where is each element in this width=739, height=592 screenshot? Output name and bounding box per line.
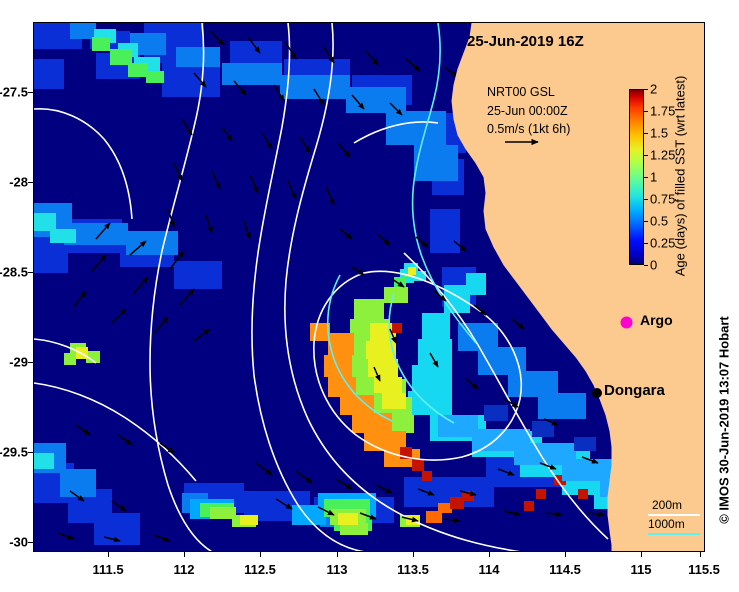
colorbar-tick xyxy=(644,155,648,156)
colorbar-label-1: 1 xyxy=(650,170,657,185)
vector-legend-line-1: NRT00 GSL xyxy=(487,85,555,99)
y-tickmark xyxy=(28,362,33,363)
y-tick-label: -27.5 xyxy=(0,85,28,100)
x-tick-label: 112.5 xyxy=(244,562,276,577)
depth-legend-1000m-swatch xyxy=(648,533,700,535)
x-tick-label: 115 xyxy=(631,562,652,577)
colorbar-tick xyxy=(644,199,648,200)
colorbar-tick xyxy=(644,111,648,112)
colorbar-tick xyxy=(644,243,648,244)
map-date-title: 25-Jun-2019 16Z xyxy=(467,33,584,50)
x-tickmark xyxy=(700,552,701,557)
x-tick-label: 113.5 xyxy=(397,562,429,577)
colorbar-label-1.5: 1.5 xyxy=(650,126,668,141)
x-tick-label: 114 xyxy=(479,562,500,577)
y-tickmark xyxy=(28,452,33,453)
x-tick-label: 114.5 xyxy=(549,562,581,577)
y-tickmark xyxy=(28,542,33,543)
x-tickmark xyxy=(184,552,185,557)
dongara-marker-icon xyxy=(592,388,602,398)
x-tickmark xyxy=(489,552,490,557)
depth-legend-200m-swatch xyxy=(648,514,700,516)
colorbar-label-0.5: 0.5 xyxy=(650,214,668,229)
colorbar-tick xyxy=(644,133,648,134)
colorbar-label-2: 2 xyxy=(650,82,657,97)
vector-legend-line-2: 25-Jun 00:00Z xyxy=(487,104,568,118)
argo-legend-label: Argo xyxy=(640,312,673,328)
y-tick-label: -30 xyxy=(9,535,28,550)
colorbar-tick xyxy=(644,89,648,90)
y-tickmark xyxy=(28,92,33,93)
map-plot-area[interactable] xyxy=(33,22,705,552)
colorbar-label-0: 0 xyxy=(650,258,657,273)
depth-legend-1000m-label: 1000m xyxy=(648,517,685,531)
y-tick-label: -28.5 xyxy=(0,265,28,280)
vector-legend-arrow-icon xyxy=(504,136,546,148)
y-tick-label: -28 xyxy=(9,175,28,190)
y-tick-label: -29 xyxy=(9,355,28,370)
x-tickmark xyxy=(108,552,109,557)
x-tick-label: 111.5 xyxy=(92,562,123,577)
vector-legend-line-3: 0.5m/s (1kt 6h) xyxy=(487,122,570,136)
depth-legend-200m-label: 200m xyxy=(652,498,682,512)
dongara-place-label: Dongara xyxy=(604,382,665,399)
y-tickmark xyxy=(28,182,33,183)
figure-canvas: 25-Jun-2019 16Z NRT00 GSL 25-Jun 00:00Z … xyxy=(0,0,739,592)
x-tick-label: 115.5 xyxy=(688,562,720,577)
x-tick-label: 112 xyxy=(174,562,195,577)
y-tickmark xyxy=(28,272,33,273)
colorbar[interactable] xyxy=(629,89,644,265)
x-tickmark xyxy=(641,552,642,557)
x-tickmark xyxy=(565,552,566,557)
x-tickmark xyxy=(260,552,261,557)
argo-marker-icon xyxy=(622,318,631,327)
map-svg xyxy=(34,23,705,552)
x-tick-label: 113 xyxy=(327,562,348,577)
copyright-notice: © IMOS 30-Jun-2019 13:07 Hobart xyxy=(717,316,732,524)
colorbar-title: Age (days) of filled SST (wrt latest) xyxy=(673,76,688,277)
x-tickmark xyxy=(413,552,414,557)
colorbar-tick xyxy=(644,177,648,178)
colorbar-tick xyxy=(644,265,648,266)
y-tick-label: -29.5 xyxy=(0,445,28,460)
colorbar-tick xyxy=(644,221,648,222)
x-tickmark xyxy=(337,552,338,557)
